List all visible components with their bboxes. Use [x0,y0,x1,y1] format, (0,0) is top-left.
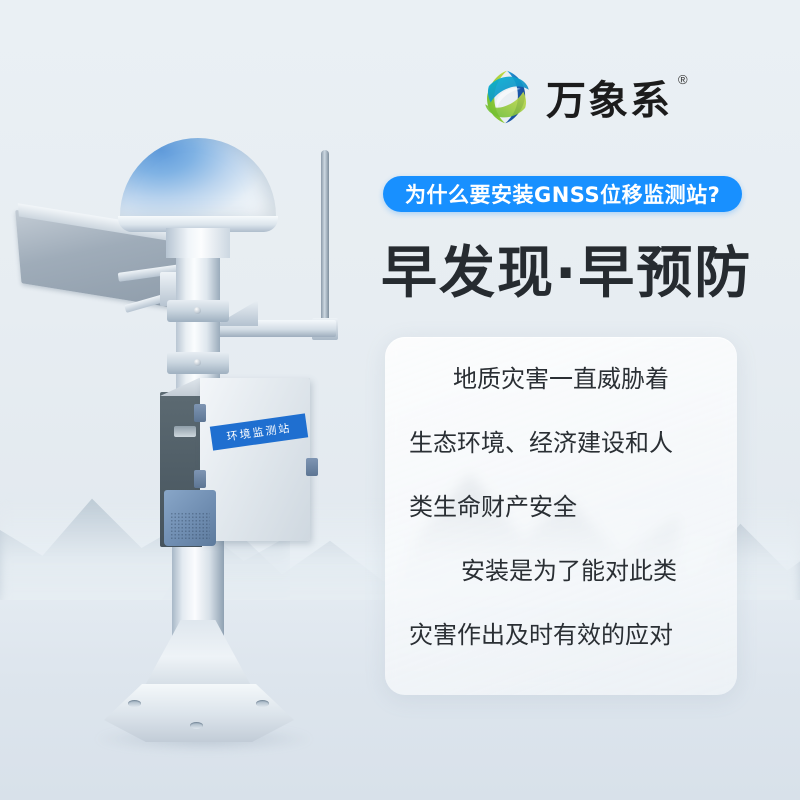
body-line-1: 地质灾害一直威胁着 [409,367,713,391]
product-illustration: 环境监测站 [0,0,400,800]
mast-clamp-bolt-upper [194,307,201,314]
registered-mark: ® [678,72,688,87]
brand-name: 万象系 [546,68,672,126]
globe-swirl-logo-icon [478,68,536,126]
body-line-2: 生态环境、经济建设和人 [409,431,713,455]
body-line-4: 安装是为了能对此类 [409,559,713,583]
enclosure-front [200,378,310,541]
enclosure-hinge-top [194,404,206,422]
gnss-dome-neck [166,228,230,258]
enclosure-hinge-mid [194,470,206,488]
gnss-dome-antenna [120,138,276,224]
poster-canvas: 环境监测站 [0,0,800,800]
enclosure-label-text: 环境监测站 [226,420,293,445]
description-card: 地质灾害一直威胁着 生态环境、经济建设和人 类生命财产安全 安装是为了能对此类 … [385,337,737,695]
body-line-3: 类生命财产安全 [409,495,713,519]
question-badge: 为什么要安装GNSS位移监测站? [383,176,742,212]
enclosure-latch [306,458,318,476]
whip-antenna [321,150,329,330]
base-bolt-hole-left [128,700,141,707]
anchor-base-plate [104,684,294,742]
mast-clamp-bolt-lower [194,359,201,366]
brand-logo: 万象系 ® [478,68,688,126]
enclosure-vent-grill [170,512,210,540]
base-bolt-hole-right [256,700,269,707]
base-bolt-hole-front [190,722,203,729]
body-line-5: 灾害作出及时有效的应对 [409,623,713,647]
page-title: 早发现·早预防 [381,228,752,309]
enclosure-slot [174,426,196,437]
